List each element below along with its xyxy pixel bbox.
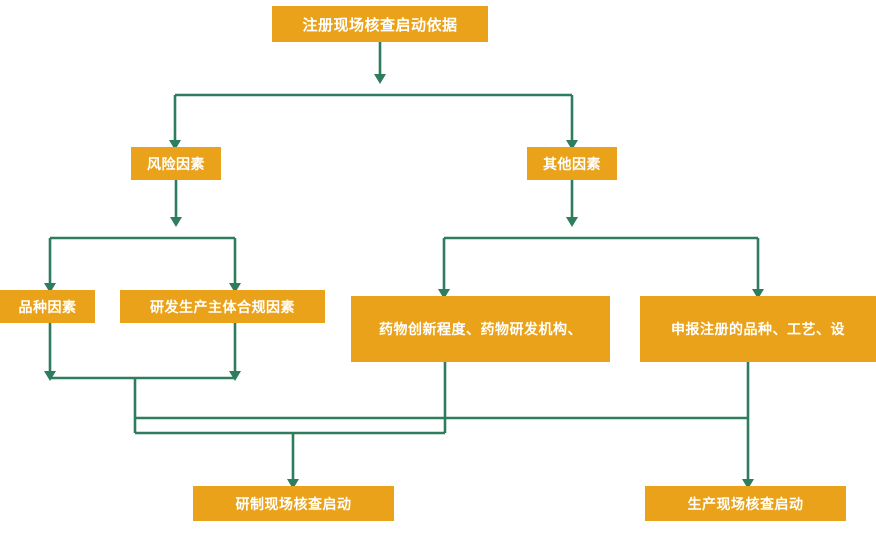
node-label-rnd-compliance-factors: 研发生产主体合规因素 [150,297,295,317]
node-rnd-compliance-factors[interactable]: 研发生产主体合规因素 [120,290,325,323]
node-label-variety-factors: 品种因素 [19,297,77,317]
node-label-drug-innovation-factors: 药物创新程度、药物研发机构、 [379,319,582,339]
node-other-factors[interactable]: 其他因素 [527,147,617,180]
arrowhead-rnd-down [229,371,241,381]
node-label-root: 注册现场核查启动依据 [302,14,457,35]
node-drug-innovation-factors[interactable]: 药物创新程度、药物研发机构、 [351,296,610,362]
node-label-production-site-inspection-start: 生产现场核查启动 [688,494,804,514]
arrowhead-other-to-bus [566,217,578,227]
node-rnd-site-inspection-start[interactable]: 研制现场核查启动 [193,486,394,521]
node-risk-factors[interactable]: 风险因素 [131,147,221,180]
arrowhead-root-to-bus [374,74,386,84]
connector-layer [0,0,876,534]
node-production-site-inspection-start[interactable]: 生产现场核查启动 [645,486,846,521]
node-variety-factors[interactable]: 品种因素 [0,290,95,323]
node-label-other-factors: 其他因素 [543,154,601,174]
node-label-registration-variety-process: 申报注册的品种、工艺、设 [671,319,845,339]
node-label-rnd-site-inspection-start: 研制现场核查启动 [236,494,352,514]
node-label-risk-factors: 风险因素 [147,154,205,174]
flowchart-canvas: 注册现场核查启动依据风险因素其他因素品种因素研发生产主体合规因素药物创新程度、药… [0,0,876,534]
arrowhead-risk-to-bus [170,217,182,227]
arrowhead-variety-down [44,371,56,381]
node-root[interactable]: 注册现场核查启动依据 [272,6,488,42]
node-registration-variety-process[interactable]: 申报注册的品种、工艺、设 [640,296,876,362]
